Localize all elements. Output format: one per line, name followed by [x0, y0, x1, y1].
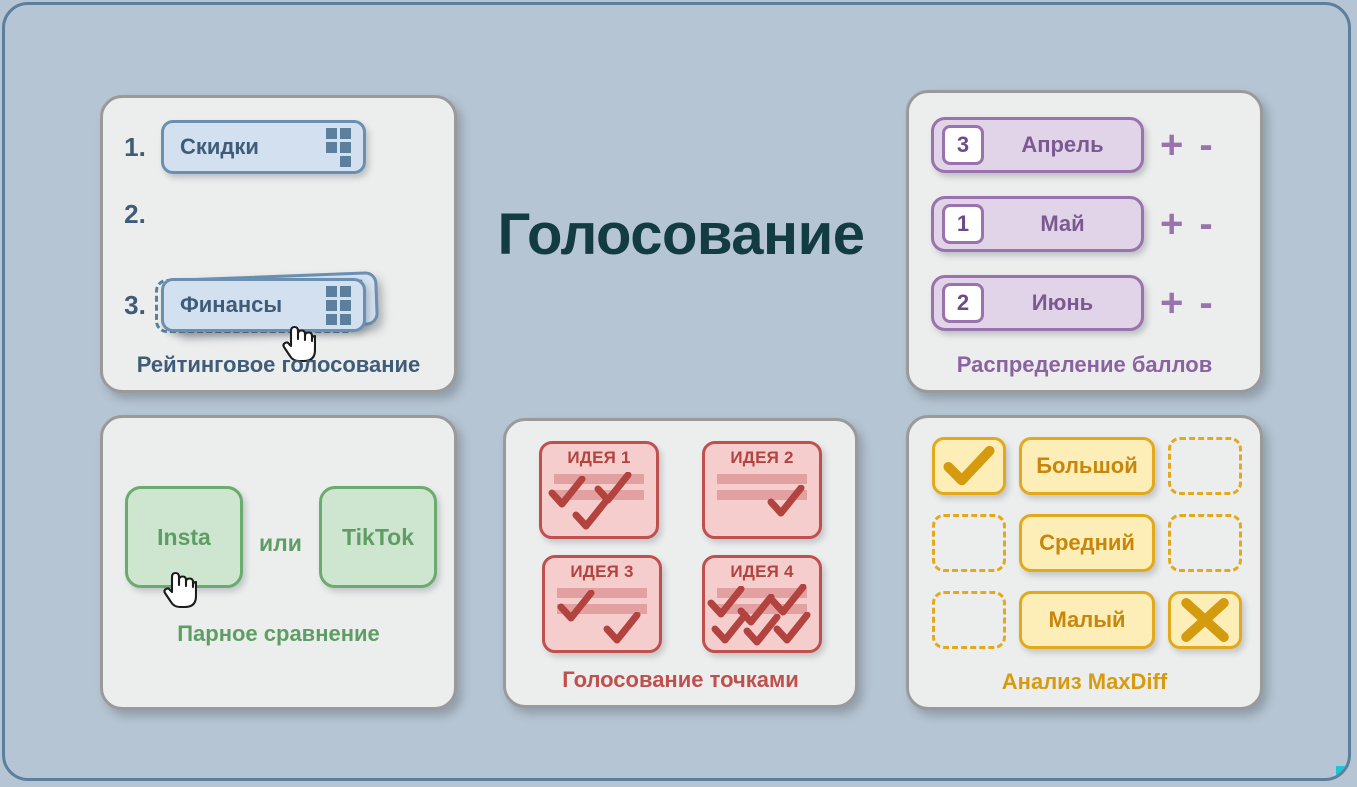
idea-bar — [717, 604, 807, 614]
maxdiff-option-label: Средний — [1022, 517, 1152, 569]
page-title: Голосование — [471, 201, 891, 268]
rank-row-2: 2. — [109, 199, 161, 230]
maxdiff-option-big[interactable]: Большой — [1019, 437, 1155, 495]
maxdiff-best-cell-row1[interactable] — [932, 437, 1006, 495]
corner-accent — [1336, 766, 1345, 775]
maxdiff-worst-cell-row1[interactable] — [1168, 437, 1242, 495]
rank-item-label: Финансы — [180, 292, 282, 318]
rank-number: 1. — [109, 132, 161, 163]
checkmark-icon — [711, 612, 749, 646]
checkmark-icon — [572, 498, 610, 532]
rank-number: 3. — [109, 290, 161, 321]
points-chip-june[interactable]: 2 Июнь — [931, 275, 1144, 331]
pair-separator: или — [259, 530, 302, 557]
idea-card-1[interactable]: ИДЕЯ 1 — [539, 441, 659, 539]
idea-card-3[interactable]: ИДЕЯ 3 — [542, 555, 662, 653]
cross-icon — [1171, 594, 1239, 646]
points-chip-april[interactable]: 3 Апрель — [931, 117, 1144, 173]
idea-bar — [554, 474, 644, 484]
pair-option-tiktok[interactable]: TikTok — [319, 486, 437, 588]
maxdiff-option-small[interactable]: Малый — [1019, 591, 1155, 649]
points-chip-may[interactable]: 1 Май — [931, 196, 1144, 252]
increment-button-may[interactable]: + — [1160, 204, 1183, 244]
drag-grip-icon[interactable] — [326, 128, 351, 167]
idea-card-2[interactable]: ИДЕЯ 2 — [702, 441, 822, 539]
rank-row-1: 1. Скидки — [109, 120, 366, 174]
idea-bar — [717, 474, 807, 484]
maxdiff-option-label: Малый — [1022, 594, 1152, 646]
idea-bar — [557, 604, 647, 614]
panel-caption-pairwise: Парное сравнение — [103, 621, 454, 647]
idea-bar — [717, 490, 807, 500]
increment-button-june[interactable]: + — [1160, 283, 1183, 323]
idea-bar — [717, 588, 807, 598]
points-label-june: Июнь — [984, 290, 1141, 316]
panel-caption-maxdiff: Анализ MaxDiff — [909, 669, 1260, 695]
rank-row-3: 3. Финансы — [109, 278, 366, 332]
decrement-button-may[interactable]: - — [1199, 204, 1212, 244]
decrement-button-april[interactable]: - — [1199, 125, 1212, 165]
rank-number: 2. — [109, 199, 161, 230]
rank-item-label: Скидки — [180, 134, 259, 160]
maxdiff-option-label: Большой — [1022, 440, 1152, 492]
panel-caption-points: Распределение баллов — [909, 352, 1260, 378]
checkmark-icon — [603, 612, 641, 646]
maxdiff-best-cell-row3[interactable] — [932, 591, 1006, 649]
idea-title: ИДЕЯ 1 — [542, 448, 656, 468]
idea-bar — [557, 588, 647, 598]
decrement-button-june[interactable]: - — [1199, 283, 1212, 323]
checkmark-icon — [743, 614, 781, 648]
points-value-april[interactable]: 3 — [942, 125, 984, 165]
drag-grip-icon[interactable] — [326, 286, 351, 325]
panel-caption-ranking: Рейтинговое голосование — [103, 352, 454, 378]
panel-pairwise-comparison: Insta или TikTok Парное сравнение — [100, 415, 457, 710]
checkmark-icon — [773, 612, 811, 646]
pair-option-insta[interactable]: Insta — [125, 486, 243, 588]
panel-points-allocation: 3 Апрель + - 1 Май + - 2 Июнь + - Распре… — [906, 90, 1263, 393]
increment-button-april[interactable]: + — [1160, 125, 1183, 165]
points-row-may: 1 Май + - — [931, 196, 1213, 252]
points-label-april: Апрель — [984, 132, 1141, 158]
points-row-april: 3 Апрель + - — [931, 117, 1213, 173]
panel-dot-voting: ИДЕЯ 1 ИДЕЯ 2 — [503, 418, 858, 708]
maxdiff-option-medium[interactable]: Средний — [1019, 514, 1155, 572]
rank-item-finance[interactable]: Финансы — [161, 278, 366, 332]
maxdiff-worst-cell-row2[interactable] — [1168, 514, 1242, 572]
idea-card-4[interactable]: ИДЕЯ 4 — [702, 555, 822, 653]
panel-maxdiff-analysis: Большой Средний Малый Анализ MaxDiff — [906, 415, 1263, 710]
panel-caption-dot-voting: Голосование точками — [506, 667, 855, 693]
checkmark-icon — [935, 440, 1003, 492]
points-value-may[interactable]: 1 — [942, 204, 984, 244]
idea-title: ИДЕЯ 2 — [705, 448, 819, 468]
app-frame: Голосование 1. Скидки 2. Маркетинг 3. — [2, 2, 1351, 781]
points-row-june: 2 Июнь + - — [931, 275, 1213, 331]
points-value-june[interactable]: 2 — [942, 283, 984, 323]
panel-ranking-vote: 1. Скидки 2. Маркетинг 3. Финансы — [100, 95, 457, 393]
idea-title: ИДЕЯ 4 — [705, 562, 819, 582]
maxdiff-best-cell-row2[interactable] — [932, 514, 1006, 572]
points-label-may: Май — [984, 211, 1141, 237]
rank-item-discounts[interactable]: Скидки — [161, 120, 366, 174]
idea-bar — [554, 490, 644, 500]
maxdiff-worst-cell-row3[interactable] — [1168, 591, 1242, 649]
idea-title: ИДЕЯ 3 — [545, 562, 659, 582]
